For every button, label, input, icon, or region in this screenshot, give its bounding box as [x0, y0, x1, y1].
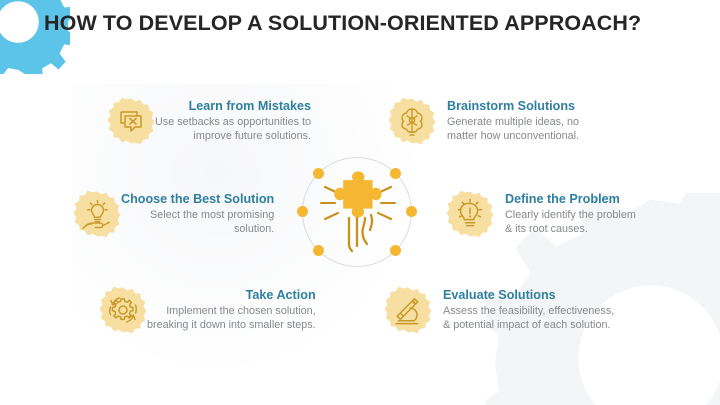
step-desc-line: & its root causes.: [505, 223, 636, 236]
speech-bubbles-x-icon: [107, 97, 155, 145]
hand-holding-puzzle-piece-icon: [319, 171, 397, 253]
slide-canvas: HOW TO DEVELOP A SOLUTION-ORIENTED APPRO…: [0, 0, 720, 405]
step-text: Define the Problem Clearly identify the …: [505, 192, 636, 236]
step-description: Select the most promising solution.: [150, 209, 274, 236]
step-desc-line: solution.: [150, 223, 274, 236]
step-description: Assess the feasibility, effectiveness, &…: [443, 305, 614, 332]
step-choose-the-best-solution[interactable]: Choose the Best Solution Select the most…: [62, 190, 274, 238]
step-text: Take Action Implement the chosen solutio…: [147, 288, 316, 332]
hub-dot-right: [406, 206, 417, 217]
step-desc-line: Assess the feasibility, effectiveness,: [443, 305, 614, 318]
step-desc-line: matter how unconventional.: [447, 130, 579, 143]
step-desc-line: improve future solutions.: [155, 130, 311, 143]
hand-holding-lightbulb-icon: [73, 190, 121, 238]
step-badge[interactable]: [388, 97, 436, 145]
step-desc-line: Clearly identify the problem: [505, 209, 636, 222]
gear-cycle-arrows-icon: [99, 286, 147, 334]
step-description: Clearly identify the problem & its root …: [505, 209, 636, 236]
brain-idea-icon: [388, 97, 436, 145]
step-desc-line: & potential impact of each solution.: [443, 319, 614, 332]
step-text: Brainstorm Solutions Generate multiple i…: [447, 99, 579, 143]
step-title: Brainstorm Solutions: [447, 99, 575, 114]
step-description: Implement the chosen solution, breaking …: [147, 305, 316, 332]
step-desc-line: Use setbacks as opportunities to: [155, 116, 311, 129]
step-description: Generate multiple ideas, no matter how u…: [447, 116, 579, 143]
center-hub: [302, 157, 412, 267]
step-title: Evaluate Solutions: [443, 288, 556, 303]
page-title: HOW TO DEVELOP A SOLUTION-ORIENTED APPRO…: [44, 11, 641, 36]
step-text: Evaluate Solutions Assess the feasibilit…: [443, 288, 614, 332]
hub-dot-left: [297, 206, 308, 217]
step-desc-line: breaking it down into smaller steps.: [147, 319, 316, 332]
step-evaluate-solutions[interactable]: Evaluate Solutions Assess the feasibilit…: [384, 286, 614, 334]
step-take-action[interactable]: Take Action Implement the chosen solutio…: [88, 286, 316, 334]
microscope-icon: [384, 286, 432, 334]
step-title: Learn from Mistakes: [189, 99, 311, 114]
step-badge[interactable]: [99, 286, 147, 334]
step-title: Choose the Best Solution: [121, 192, 274, 207]
step-title: Take Action: [246, 288, 316, 303]
step-badge[interactable]: [107, 97, 155, 145]
lightbulb-exclamation-gear-icon: [446, 190, 494, 238]
step-title: Define the Problem: [505, 192, 620, 207]
step-desc-line: Select the most promising: [150, 209, 274, 222]
step-badge[interactable]: [384, 286, 432, 334]
step-desc-line: Generate multiple ideas, no: [447, 116, 579, 129]
step-text: Choose the Best Solution Select the most…: [121, 192, 274, 236]
step-brainstorm-solutions[interactable]: Brainstorm Solutions Generate multiple i…: [388, 97, 579, 145]
step-description: Use setbacks as opportunities to improve…: [155, 116, 311, 143]
step-define-the-problem[interactable]: Define the Problem Clearly identify the …: [446, 190, 636, 238]
step-learn-from-mistakes[interactable]: Learn from Mistakes Use setbacks as oppo…: [96, 97, 311, 145]
step-badge[interactable]: [446, 190, 494, 238]
step-text: Learn from Mistakes Use setbacks as oppo…: [155, 99, 311, 143]
step-desc-line: Implement the chosen solution,: [147, 305, 316, 318]
step-badge[interactable]: [73, 190, 121, 238]
